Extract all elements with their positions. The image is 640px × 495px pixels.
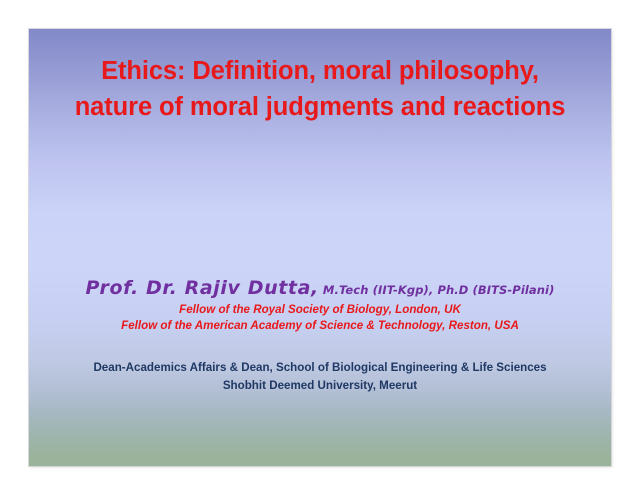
author-degrees: M.Tech (IIT-Kgp), Ph.D (BITS-Pilani) xyxy=(319,283,555,297)
affiliation-block: Dean-Academics Affairs & Dean, School of… xyxy=(29,359,611,395)
title-line-2: nature of moral judgments and reactions xyxy=(29,89,611,125)
fellowship-line-1: Fellow of the Royal Society of Biology, … xyxy=(29,302,611,318)
author-block: Prof. Dr. Rajiv Dutta, M.Tech (IIT-Kgp),… xyxy=(29,276,611,334)
presentation-slide: Ethics: Definition, moral philosophy, na… xyxy=(29,29,611,466)
page-canvas: Ethics: Definition, moral philosophy, na… xyxy=(0,0,640,495)
author-name: Prof. Dr. Rajiv Dutta, xyxy=(86,277,319,299)
title-line-1: Ethics: Definition, moral philosophy, xyxy=(29,53,611,89)
fellowship-line-2: Fellow of the American Academy of Scienc… xyxy=(29,318,611,334)
affiliation-line-1: Dean-Academics Affairs & Dean, School of… xyxy=(29,359,611,377)
author-name-line: Prof. Dr. Rajiv Dutta, M.Tech (IIT-Kgp),… xyxy=(29,276,611,302)
affiliation-line-2: Shobhit Deemed University, Meerut xyxy=(29,377,611,395)
slide-title: Ethics: Definition, moral philosophy, na… xyxy=(29,53,611,125)
